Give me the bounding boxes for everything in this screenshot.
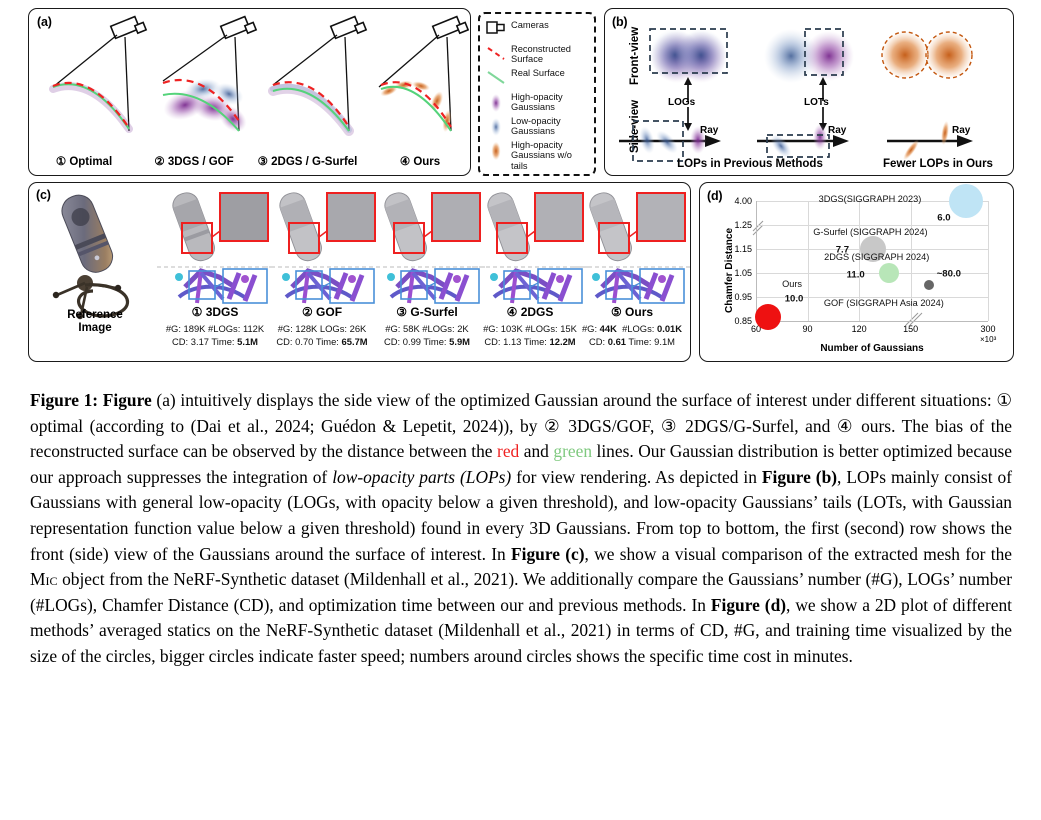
- ref-label-line1: Reference: [67, 309, 123, 321]
- chart-point-label-3: GOF (SIGGRAPH Asia 2024): [824, 298, 944, 308]
- panel-c-reference: Reference Image: [39, 187, 151, 359]
- chart-point-time-2: 11.0: [847, 270, 865, 281]
- camera-icon: [486, 20, 508, 41]
- legend-box: Cameras Reconstructed Surface Real Surfa…: [478, 12, 596, 176]
- caption-prefix: Figure 1:: [30, 390, 98, 410]
- ref-label-line2: Image: [78, 322, 111, 334]
- blue-gaussian-icon: [486, 116, 508, 137]
- panel-b-ray-label-2: Ray: [828, 125, 846, 136]
- legend-item-high-opacity-no-tails: High-opacity Gaussians w/o tails: [486, 140, 590, 171]
- caption-part-1: Figure: [103, 390, 152, 410]
- chart-point-label-2: 2DGS (SIGGRAPH 2024): [824, 252, 929, 262]
- caption-part-17: Figure: [711, 595, 760, 615]
- chart-point-4: [755, 304, 781, 330]
- panel-a-label-3dgs-gof: ② 3DGS / GOF: [139, 154, 249, 168]
- chart-point-time-0: 6.0: [937, 213, 950, 224]
- panel-c-stat1-ours: #G: 44K #LOGs: 0.01K: [568, 323, 696, 334]
- chart-point-2: [879, 263, 899, 283]
- caption-part-7: low-opacity parts (LOPs): [332, 467, 511, 487]
- panel-b-diagram: [605, 9, 1015, 177]
- legend-label-low-opacity-gaussians: Low-opacity Gaussians: [511, 116, 590, 137]
- legend-item-real-surface: Real Surface: [486, 68, 590, 89]
- caption-part-8: for view rendering. As depicted in: [511, 467, 762, 487]
- panel-b-ray-label-3: Ray: [952, 125, 970, 136]
- legend-label-reconstructed-surface: Reconstructed Surface: [511, 44, 590, 65]
- chart-plot-area: 0.850.951.051.151.254.0060901201503003DG…: [756, 201, 988, 321]
- reference-mic-image: [39, 187, 151, 322]
- panel-b-caption-previous: LOPs in Previous Methods: [635, 158, 865, 170]
- legend-label-high-opacity-gaussians: High-opacity Gaussians: [511, 92, 590, 113]
- chart-ytick-1.05: 1.05: [734, 268, 752, 278]
- legend-label-cameras: Cameras: [511, 20, 549, 30]
- panel-a-cell-optimal: ① Optimal: [29, 17, 139, 175]
- chart-ytick-0.95: 0.95: [734, 292, 752, 302]
- panel-b-ray-label-1: Ray: [700, 125, 718, 136]
- chart-ytick-1.25: 1.25: [734, 220, 752, 230]
- panel-c-stat2-ours: CD: 0.61 Time: 9.1M: [568, 336, 696, 347]
- caption-part-15: Mic: [30, 569, 57, 589]
- chart-xtick-90: 90: [803, 324, 813, 334]
- chart-y-axis-title: Chamfer Distance: [724, 228, 735, 313]
- panel-d-chart: (d) Chamfer Distance Number of Gaussians…: [699, 182, 1014, 362]
- legend-item-cameras: Cameras: [486, 20, 590, 41]
- chart-point-0: [949, 184, 983, 218]
- caption-body: Figure (a) intuitively displays the side…: [30, 390, 1012, 666]
- panel-b-caption-ours: Fewer LOPs in Ours: [867, 158, 1009, 170]
- chart-x-axis-title: Number of Gaussians: [756, 343, 988, 354]
- panel-c-name-3dgs: ① 3DGS: [157, 305, 273, 319]
- panel-b-annotation-logs: LOGs: [668, 97, 695, 108]
- chart-gridline-x: [988, 201, 989, 321]
- legend-label-real-surface: Real Surface: [511, 68, 565, 78]
- panel-c: (c): [28, 182, 691, 362]
- chart-ytick-1.15: 1.15: [734, 244, 752, 254]
- caption-part-14: , we show a visual comparison of the ext…: [585, 544, 1012, 564]
- chart-gridline-y: [756, 225, 988, 226]
- caption-part-12: Figure: [511, 544, 560, 564]
- chart-x-multiplier: ×10³: [980, 335, 996, 344]
- legend-label-high-opacity-no-tails: High-opacity Gaussians w/o tails: [511, 140, 590, 171]
- chart-point-label-0: 3DGS(SIGGRAPH 2023): [819, 194, 922, 204]
- panel-a: (a): [28, 8, 471, 176]
- panel-c-name-gof: ② GOF: [264, 305, 380, 319]
- chart-point-label-4: Ours: [782, 279, 802, 289]
- legend-item-reconstructed-surface: Reconstructed Surface: [486, 44, 590, 65]
- caption-part-5: green: [553, 441, 592, 461]
- figure-1: (a): [28, 8, 1014, 368]
- panel-a-label-2dgs-gsurfel: ③ 2DGS / G-Surfel: [245, 154, 370, 168]
- chart-point-time-3: ~80.0: [937, 269, 961, 280]
- caption-part-10: (b): [811, 467, 837, 487]
- panel-d-tag: (d): [707, 189, 722, 203]
- chart-gridline-x: [808, 201, 809, 321]
- panel-b: (b) Front-view Side-view: [604, 8, 1014, 176]
- chart-point-label-1: G-Surfel (SIGGRAPH 2024): [813, 227, 927, 237]
- chart-xtick-150: 150: [903, 324, 918, 334]
- chart-point-3: [924, 280, 934, 290]
- legend-item-high-opacity-gaussians: High-opacity Gaussians: [486, 92, 590, 113]
- orange-gaussian-icon: [486, 140, 508, 161]
- panel-c-name-gsurfel: ③ G-Surfel: [369, 305, 485, 319]
- panel-c-name-ours: ⑤ Ours: [574, 305, 690, 319]
- panel-a-cell-ours: ④ Ours: [365, 17, 475, 175]
- caption-part-4: and: [519, 441, 553, 461]
- panel-a-label-optimal: ① Optimal: [29, 154, 139, 168]
- chart-ytick-4.00: 4.00: [734, 196, 752, 206]
- chart-xtick-300: 300: [980, 324, 995, 334]
- panel-b-annotation-lots: LOTs: [804, 97, 829, 108]
- panel-a-cell-2dgs-gsurfel: ③ 2DGS / G-Surfel: [245, 17, 370, 175]
- caption-part-9: Figure: [762, 467, 811, 487]
- panel-a-cell-3dgs-gof: ② 3DGS / GOF: [139, 17, 249, 175]
- caption-part-3: red: [497, 441, 519, 461]
- red-dashed-line-icon: [486, 44, 508, 65]
- purple-gaussian-icon: [486, 92, 508, 113]
- panel-c-column-3dgs: ① 3DGS #G: 189K #LOGs: 112K CD: 3.17 Tim…: [157, 187, 273, 359]
- panel-c-name-2dgs: ④ 2DGS: [472, 305, 588, 319]
- green-line-icon: [486, 68, 508, 89]
- chart-point-time-4: 10.0: [785, 293, 804, 304]
- chart-ytick-0.85: 0.85: [734, 316, 752, 326]
- caption-part-13: (c): [560, 544, 585, 564]
- panel-c-column-ours: ⑤ Ours #G: 44K #LOGs: 0.01K CD: 0.61 Tim…: [574, 187, 690, 359]
- chart-y-axis-line: [756, 201, 757, 321]
- chart-x-axis-line: [756, 321, 988, 322]
- panel-a-label-ours: ④ Ours: [365, 154, 475, 168]
- panel-c-reference-label: Reference Image: [39, 309, 151, 335]
- caption-part-18: (d): [760, 595, 786, 615]
- chart-xtick-120: 120: [852, 324, 867, 334]
- legend-item-low-opacity-gaussians: Low-opacity Gaussians: [486, 116, 590, 137]
- figure-caption: Figure 1: Figure (a) intuitively display…: [30, 388, 1012, 670]
